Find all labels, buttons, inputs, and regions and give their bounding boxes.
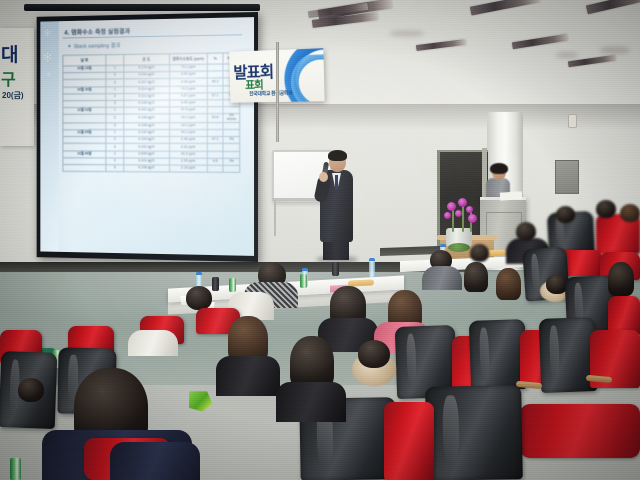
audience-torso (276, 382, 346, 422)
td-date (63, 123, 106, 130)
td-pct (207, 151, 223, 158)
td-temp: 0.108 ㎎/S (124, 114, 170, 123)
podium-papers (500, 191, 522, 200)
td-time (223, 122, 239, 129)
td-date (63, 137, 106, 144)
td-pct (207, 122, 223, 129)
banner-pole (276, 42, 279, 142)
slide-content: ❄ ❄ ❄ 4. 염화수소 측정 실험결과 Stack sampling 결과 … (40, 17, 254, 256)
audience-head (464, 262, 488, 292)
ceiling-stain (600, 46, 630, 54)
slide-title: 4. 염화수소 측정 실험결과 (64, 27, 130, 37)
drink-can (300, 274, 307, 288)
drink-can (212, 277, 219, 291)
wall-control-panel (555, 160, 579, 194)
audience-head (556, 206, 575, 223)
td-time: 7hr (223, 158, 239, 165)
table-row: 11월 05일10.142 ㎎/S44.2 ppm (63, 130, 240, 137)
orchid-flower (447, 202, 456, 211)
drink-can (229, 278, 236, 292)
td-temp: 0.142 ㎎/S (124, 130, 170, 137)
td-pct: 4.6 (207, 158, 223, 165)
td-temp: 0.108 ㎎/S (124, 165, 170, 172)
td-time (223, 151, 239, 158)
td-pct: 67.1 (207, 93, 223, 100)
seat-cushion[interactable] (520, 404, 640, 458)
td-pct (207, 165, 223, 172)
audience-head (470, 244, 489, 262)
orchid-flower (444, 212, 451, 219)
td-pct: 53.6 (207, 114, 223, 123)
whiteboard-leg (274, 200, 276, 236)
td-pct (207, 130, 223, 137)
left-banner-line3: 20(금) (2, 90, 24, 101)
td-no: 2 (106, 114, 123, 122)
audience-head (608, 262, 634, 296)
slide-data-table: 날 짜 온 도 염화수소농도 (ppm) % Time 10월 29일10.27… (62, 52, 240, 173)
td-temp: 0.109 ㎎/S (124, 137, 170, 144)
th-conc: 염화수소농도 (ppm) (169, 53, 207, 64)
moderator-hair (490, 163, 508, 174)
projection-screen: ❄ ❄ ❄ 4. 염화수소 측정 실험결과 Stack sampling 결과 … (37, 12, 258, 262)
seat-cushion[interactable] (384, 402, 434, 480)
td-no: 3 (106, 144, 123, 151)
speaker-hair (328, 150, 347, 161)
td-conc: 2.46 ppm (169, 137, 207, 144)
table-row: 30.108 ㎎/S2.19 ppm (63, 164, 240, 172)
td-date (63, 114, 106, 122)
td-time: 7hr (223, 137, 239, 144)
drink-can (332, 262, 339, 276)
audience-head (186, 286, 212, 310)
wall-speaker (568, 114, 577, 128)
td-conc: 19.2 ppm (169, 114, 207, 123)
orchid-leaves (448, 243, 470, 252)
td-pct (207, 107, 223, 114)
speaker-tie (335, 175, 338, 189)
td-no: 1 (106, 151, 123, 158)
slide-bullet: Stack sampling 결과 (68, 41, 120, 50)
left-banner: 대 구 20(금) (0, 28, 34, 146)
td-no: 3 (106, 123, 123, 130)
orchid-flower (458, 198, 467, 207)
audience-head (358, 340, 390, 368)
td-temp: 0.108 ㎎/S (124, 123, 170, 130)
th-temp: 온 도 (124, 54, 170, 65)
audience-head (620, 204, 640, 222)
audience-head (596, 200, 616, 218)
th-date: 날 짜 (63, 55, 106, 66)
snowflake-icon: ❄ (46, 71, 52, 79)
seat-back[interactable] (425, 385, 523, 480)
td-no: 3 (106, 165, 123, 172)
td-time (223, 130, 239, 137)
left-banner-line2: 구 (1, 66, 14, 90)
audience-torso (128, 330, 178, 356)
screen-surface: ❄ ❄ ❄ 4. 염화수소 측정 실험결과 Stack sampling 결과 … (40, 17, 254, 256)
td-pct (207, 100, 223, 107)
td-pct: 47.1 (207, 137, 223, 144)
slide-decorative-sidebar: ❄ ❄ ❄ (40, 21, 58, 252)
ceiling-stain (390, 30, 424, 37)
lecture-hall-photo: 대 구 20(금) ❄ ❄ ❄ 4. 염화수소 측정 실험결과 Stack sa… (0, 0, 640, 480)
td-no: 2 (106, 137, 123, 144)
orchid-flower (466, 206, 473, 213)
td-no: 1 (106, 130, 123, 137)
orchid-flower (468, 214, 477, 223)
td-time: 1hr 40min (223, 114, 239, 123)
left-banner-line1: 대 (1, 40, 16, 67)
td-time (223, 144, 239, 151)
snack-tray (486, 250, 506, 257)
water-bottle (369, 258, 375, 278)
audience-head (516, 222, 536, 241)
td-conc: 2.19 ppm (169, 165, 207, 172)
audience-torso (422, 266, 462, 290)
td-time (223, 165, 239, 172)
snowflake-icon: ❄ (43, 29, 51, 40)
drink-can (10, 458, 21, 480)
td-date: 11월 05일 (63, 130, 106, 137)
snowflake-icon: ❄ (42, 50, 53, 64)
speaker-hand (319, 172, 328, 182)
seat-back[interactable] (539, 317, 598, 393)
td-conc: 44.2 ppm (169, 130, 207, 137)
td-conc: 19.2 ppm (169, 122, 207, 129)
td-date (63, 164, 106, 171)
th-no (106, 54, 123, 65)
screen-roller (24, 4, 260, 11)
ceiling-stain (556, 52, 578, 58)
th-pct: % (207, 53, 223, 64)
orchid-flower (455, 210, 462, 217)
td-no: 1 (106, 107, 123, 114)
banner-organization: 한국대학교 환경공학과 (249, 90, 292, 98)
green-snack-bag (185, 388, 214, 413)
audience-head (18, 378, 44, 402)
td-pct (207, 144, 223, 151)
audience-torso (216, 356, 280, 396)
audience-head (496, 268, 521, 300)
audience-torso (110, 442, 200, 480)
